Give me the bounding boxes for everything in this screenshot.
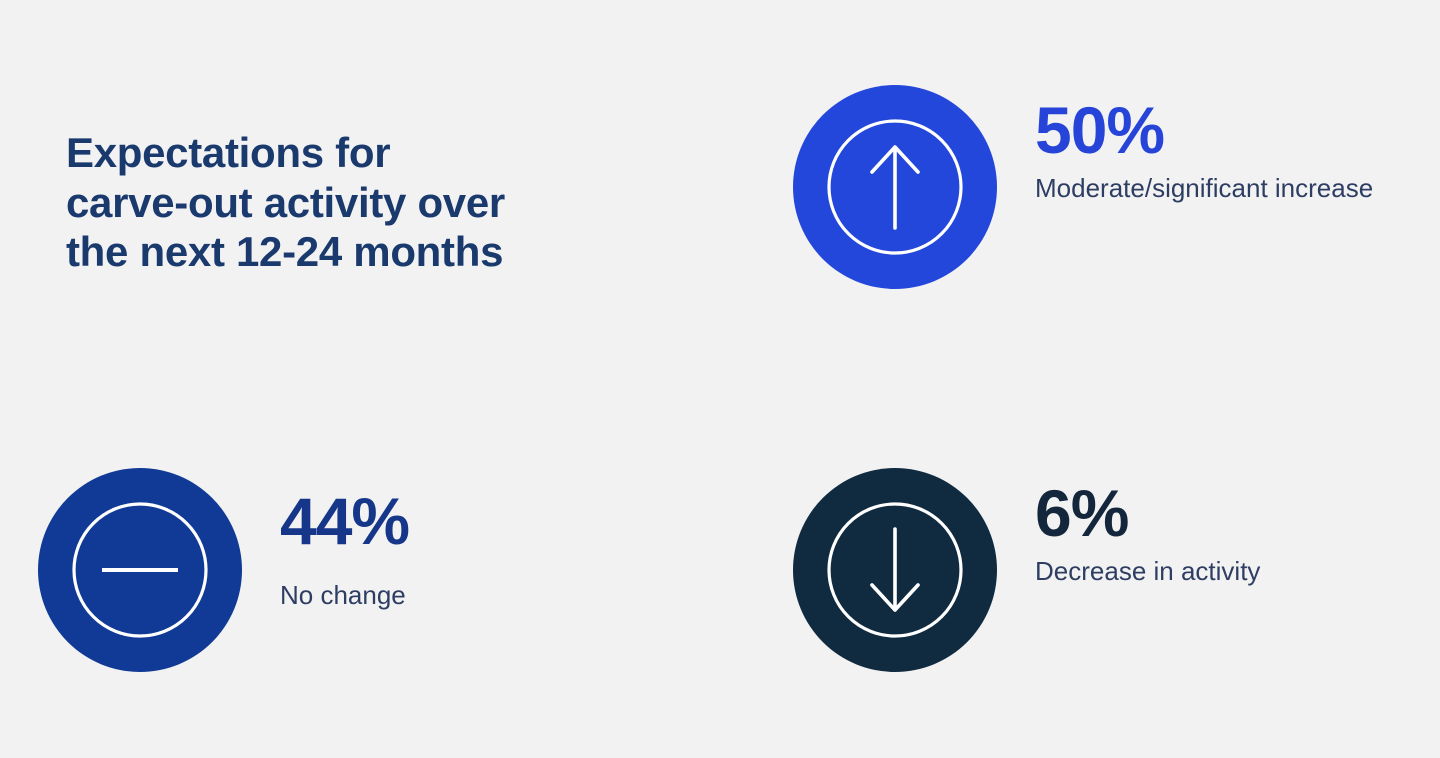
arrow-up-icon <box>793 85 997 289</box>
title-line-2: carve-out activity over <box>66 178 666 228</box>
stat-decrease-badge <box>793 468 997 672</box>
stat-decrease-text: 6% Decrease in activity <box>1035 468 1260 588</box>
stat-decrease: 6% Decrease in activity <box>793 468 1260 672</box>
title-line-1: Expectations for <box>66 128 666 178</box>
stat-no-change-label: No change <box>280 579 409 613</box>
stat-increase-text: 50% Moderate/significant increase <box>1035 85 1373 205</box>
minus-icon <box>38 468 242 672</box>
stat-no-change-value: 44% <box>280 490 409 553</box>
title-line-3: the next 12-24 months <box>66 227 666 277</box>
page-title: Expectations for carve-out activity over… <box>66 128 666 277</box>
stat-increase: 50% Moderate/significant increase <box>793 85 1373 289</box>
stat-no-change-badge <box>38 468 242 672</box>
arrow-down-icon <box>793 468 997 672</box>
stat-decrease-value: 6% <box>1035 482 1260 545</box>
infographic-root: Expectations for carve-out activity over… <box>0 0 1440 758</box>
stat-increase-label: Moderate/significant increase <box>1035 172 1373 206</box>
stat-increase-badge <box>793 85 997 289</box>
stat-no-change-text: 44% No change <box>280 468 409 612</box>
stat-no-change: 44% No change <box>38 468 409 672</box>
stat-decrease-label: Decrease in activity <box>1035 555 1260 589</box>
stat-increase-value: 50% <box>1035 99 1373 162</box>
